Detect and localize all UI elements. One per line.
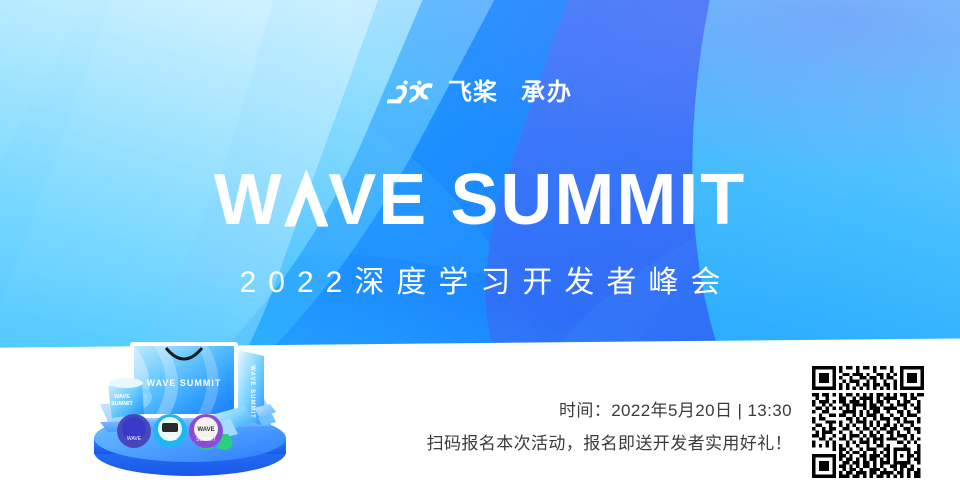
title-part-1: W xyxy=(214,164,284,236)
svg-text:WAVE SUMMIT: WAVE SUMMIT xyxy=(249,365,255,419)
svg-text:WAVE SUMMIT: WAVE SUMMIT xyxy=(147,378,222,388)
event-time: 时间：2022年5月20日 | 13:30 xyxy=(427,398,792,424)
svg-text:SUMMIT: SUMMIT xyxy=(111,401,133,407)
svg-text:WAVE: WAVE xyxy=(163,436,178,442)
event-info: 时间：2022年5月20日 | 13:30 扫码报名本次活动，报名即送开发者实用… xyxy=(427,398,792,456)
brand-role-label: 承办 xyxy=(521,81,573,105)
brand-lockup: 飞桨 承办 xyxy=(0,78,960,108)
merchandise-podium-icon: WAVE SUMMIT WAVE SUMMIT WAVE SUMMIT xyxy=(58,330,318,500)
event-note: 扫码报名本次活动，报名即送开发者实用好礼！ xyxy=(427,431,792,457)
svg-text:WAVE: WAVE xyxy=(127,436,142,442)
page-title: WVE SUMMIT xyxy=(0,164,960,236)
title-part-2: VE SUMMIT xyxy=(328,164,746,236)
brand-name-cn: 飞桨 xyxy=(448,81,498,105)
qr-code-icon[interactable] xyxy=(808,362,928,482)
paddlepaddle-logo-icon xyxy=(387,78,439,108)
wave-summit-poster: 飞桨 承办 WVE SUMMIT 2022深度学习开发者峰会 时间：2022年5… xyxy=(0,0,960,500)
svg-text:SUMMIT: SUMMIT xyxy=(196,437,216,443)
svg-text:WAVE: WAVE xyxy=(114,394,130,400)
svg-text:WAVE: WAVE xyxy=(197,427,214,433)
page-subtitle: 2022深度学习开发者峰会 xyxy=(0,264,960,302)
